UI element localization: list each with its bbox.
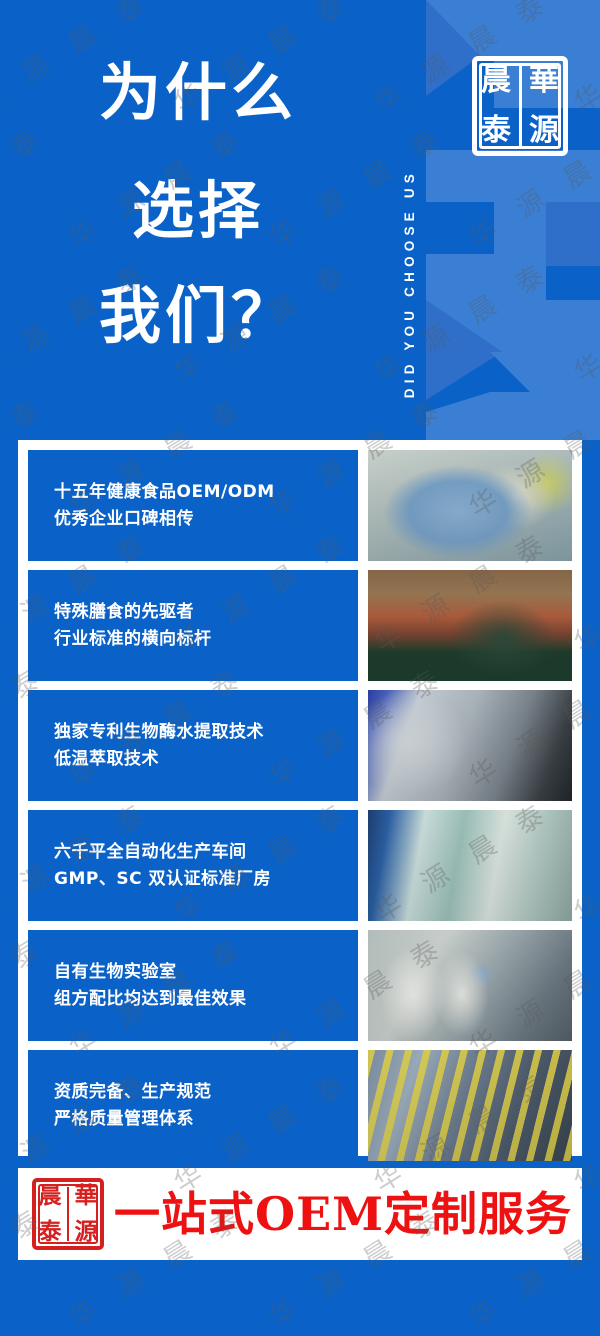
bottom-slogan-banner: 晨 華 泰 源 一站式OEM定制服务: [18, 1168, 582, 1260]
seal-char-2: 華: [520, 56, 568, 106]
feature-2-line-2: 行业标准的横向标杆: [54, 626, 352, 652]
feature-1-line-1: 十五年健康食品OEM/ODM: [54, 479, 352, 505]
seal-char-3: 泰: [472, 106, 520, 156]
feature-text-3: 独家专利生物酶水提取技术 低温萃取技术: [28, 690, 358, 801]
feature-photo-5: [368, 930, 572, 1041]
seal-char-1: 晨: [472, 56, 520, 106]
title-line-2: 选择: [28, 180, 368, 242]
seal-char-4: 源: [68, 1214, 104, 1250]
vertical-english-tagline: DID YOU CHOOSE US: [396, 28, 422, 398]
feature-row-5: 自有生物实验室 组方配比均达到最佳效果: [28, 930, 572, 1041]
vertical-english-text: DID YOU CHOOSE US: [402, 169, 417, 398]
company-seal-logo-bottom: 晨 華 泰 源: [32, 1178, 104, 1250]
feature-photo-2: [368, 570, 572, 681]
bottom-slogan-text: 一站式OEM定制服务: [114, 1191, 572, 1237]
feature-4-line-1: 六千平全自动化生产车间: [54, 839, 352, 865]
feature-text-4: 六千平全自动化生产车间 GMP、SC 双认证标准厂房: [28, 810, 358, 921]
feature-row-6: 资质完备、生产规范 严格质量管理体系: [28, 1050, 572, 1161]
feature-text-1: 十五年健康食品OEM/ODM 优秀企业口碑相传: [28, 450, 358, 561]
watermark-text: 华 源 晨 泰: [0, 1329, 159, 1336]
feature-6-line-2: 严格质量管理体系: [54, 1106, 352, 1132]
feature-photo-1: [368, 450, 572, 561]
feature-row-2: 特殊膳食的先驱者 行业标准的横向标杆: [28, 570, 572, 681]
company-seal-logo-header: 晨 華 泰 源: [472, 56, 568, 156]
feature-text-5: 自有生物实验室 组方配比均达到最佳效果: [28, 930, 358, 1041]
feature-photo-3: [368, 690, 572, 801]
watermark-text: 华 源 晨 泰: [365, 1329, 558, 1336]
feature-row-3: 独家专利生物酶水提取技术 低温萃取技术: [28, 690, 572, 801]
feature-3-line-2: 低温萃取技术: [54, 746, 352, 772]
feature-4-line-2: GMP、SC 双认证标准厂房: [54, 866, 352, 892]
feature-5-line-2: 组方配比均达到最佳效果: [54, 986, 352, 1012]
watermark-text: 华 源 晨 泰: [565, 1329, 600, 1336]
feature-6-line-1: 资质完备、生产规范: [54, 1079, 352, 1105]
feature-2-line-1: 特殊膳食的先驱者: [54, 599, 352, 625]
feature-text-2: 特殊膳食的先驱者 行业标准的横向标杆: [28, 570, 358, 681]
feature-text-6: 资质完备、生产规范 严格质量管理体系: [28, 1050, 358, 1161]
title-line-1: 为什么: [28, 62, 368, 124]
feature-3-line-1: 独家专利生物酶水提取技术: [54, 719, 352, 745]
seal-char-4: 源: [520, 106, 568, 156]
seal-char-1: 晨: [32, 1178, 68, 1214]
watermark-text: 华 源 晨 泰: [165, 1329, 358, 1336]
feature-row-4: 六千平全自动化生产车间 GMP、SC 双认证标准厂房: [28, 810, 572, 921]
poster-title: 为什么 选择 我们？: [0, 0, 400, 440]
feature-5-line-1: 自有生物实验室: [54, 959, 352, 985]
feature-list-frame: 十五年健康食品OEM/ODM 优秀企业口碑相传 特殊膳食的先驱者 行业标准的横向…: [18, 440, 582, 1156]
seal-char-2: 華: [68, 1178, 104, 1214]
feature-1-line-2: 优秀企业口碑相传: [54, 506, 352, 532]
seal-char-3: 泰: [32, 1214, 68, 1250]
title-line-3: 我们？: [28, 285, 368, 347]
feature-photo-6: [368, 1050, 572, 1161]
feature-row-1: 十五年健康食品OEM/ODM 优秀企业口碑相传: [28, 450, 572, 561]
feature-photo-4: [368, 810, 572, 921]
